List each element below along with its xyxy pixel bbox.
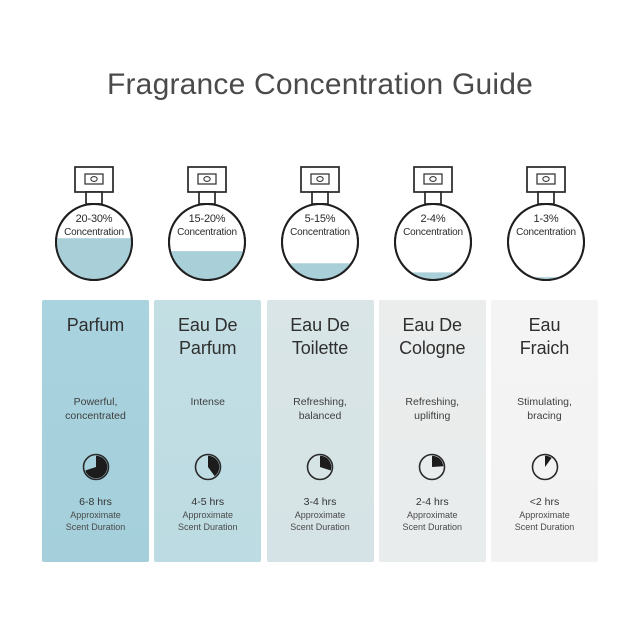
card-duration-hours: 3-4 hrs [267,495,374,509]
clock-duration-icon [491,452,598,482]
card-duration-sub-line2: Scent Duration [267,521,374,533]
card-title-line1: Eau De [379,314,486,337]
card-duration-sub-line1: Approximate [491,509,598,521]
card-duration-hours: <2 hrs [491,495,598,509]
card-description: Refreshing,balanced [267,395,374,423]
card-duration-sub-line1: Approximate [379,509,486,521]
card-description: Refreshing,uplifting [379,395,486,423]
card-eau-fraich[interactable]: EauFraichStimulating,bracing<2 hrsApprox… [491,300,598,562]
card-title-line1: Parfum [42,314,149,337]
bottle-eau-de-toilette: 5-15%Concentration [268,158,372,284]
bottle-eau-de-parfum: 15-20%Concentration [155,158,259,284]
bottle-parfum: 20-30%Concentration [42,158,146,284]
card-title-line2: Cologne [379,337,486,360]
card-description-line1: Powerful, [42,395,149,409]
card-eau-de-cologne[interactable]: Eau DeCologneRefreshing,uplifting2-4 hrs… [379,300,486,562]
bottle-row: 20-30%Concentration 15-20%Concentration [42,158,598,284]
card-duration-sub-line2: Scent Duration [154,521,261,533]
card-description-line2: uplifting [379,409,486,423]
card-duration-sub-line1: Approximate [267,509,374,521]
card-description-line1: Refreshing, [267,395,374,409]
clock-duration-icon [267,452,374,482]
card-duration-hours: 4-5 hrs [154,495,261,509]
card-duration: 3-4 hrsApproximateScent Duration [267,495,374,533]
card-title-line1: Eau [491,314,598,337]
card-duration: <2 hrsApproximateScent Duration [491,495,598,533]
card-description-line1: Intense [154,395,261,409]
card-duration-sub-line1: Approximate [42,509,149,521]
card-duration: 2-4 hrsApproximateScent Duration [379,495,486,533]
card-parfum[interactable]: ParfumPowerful,concentrated6-8 hrsApprox… [42,300,149,562]
card-description-line2: concentrated [42,409,149,423]
card-duration-sub-line1: Approximate [154,509,261,521]
card-title-line1: Eau De [154,314,261,337]
card-title: EauFraich [491,314,598,360]
card-duration-sub-line2: Scent Duration [42,521,149,533]
card-duration: 4-5 hrsApproximateScent Duration [154,495,261,533]
card-title: Eau DeParfum [154,314,261,360]
card-eau-de-toilette[interactable]: Eau DeToiletteRefreshing,balanced3-4 hrs… [267,300,374,562]
card-duration-sub-line2: Scent Duration [379,521,486,533]
card-duration-hours: 6-8 hrs [42,495,149,509]
card-description-line1: Stimulating, [491,395,598,409]
card-title: Eau DeCologne [379,314,486,360]
card-description: Intense [154,395,261,409]
clock-duration-icon [42,452,149,482]
card-description-line1: Refreshing, [379,395,486,409]
clock-duration-icon [154,452,261,482]
bottle-eau-de-cologne: 2-4%Concentration [381,158,485,284]
card-description: Powerful,concentrated [42,395,149,423]
card-eau-de-parfum[interactable]: Eau DeParfumIntense4-5 hrsApproximateSce… [154,300,261,562]
card-description-line2: bracing [491,409,598,423]
card-title: Parfum [42,314,149,360]
page-title: Fragrance Concentration Guide [0,68,640,102]
card-description: Stimulating,bracing [491,395,598,423]
card-title-line2: Toilette [267,337,374,360]
infographic-canvas: Fragrance Concentration Guide 20-30%Conc… [0,0,640,640]
bottle-eau-fraich: 1-3%Concentration [494,158,598,284]
card-title-line1: Eau De [267,314,374,337]
card-row: ParfumPowerful,concentrated6-8 hrsApprox… [42,300,598,562]
card-duration: 6-8 hrsApproximateScent Duration [42,495,149,533]
card-duration-hours: 2-4 hrs [379,495,486,509]
card-duration-sub-line2: Scent Duration [491,521,598,533]
card-description-line2: balanced [267,409,374,423]
clock-duration-icon [379,452,486,482]
card-title-line2: Parfum [154,337,261,360]
card-title: Eau DeToilette [267,314,374,360]
card-title-line2: Fraich [491,337,598,360]
